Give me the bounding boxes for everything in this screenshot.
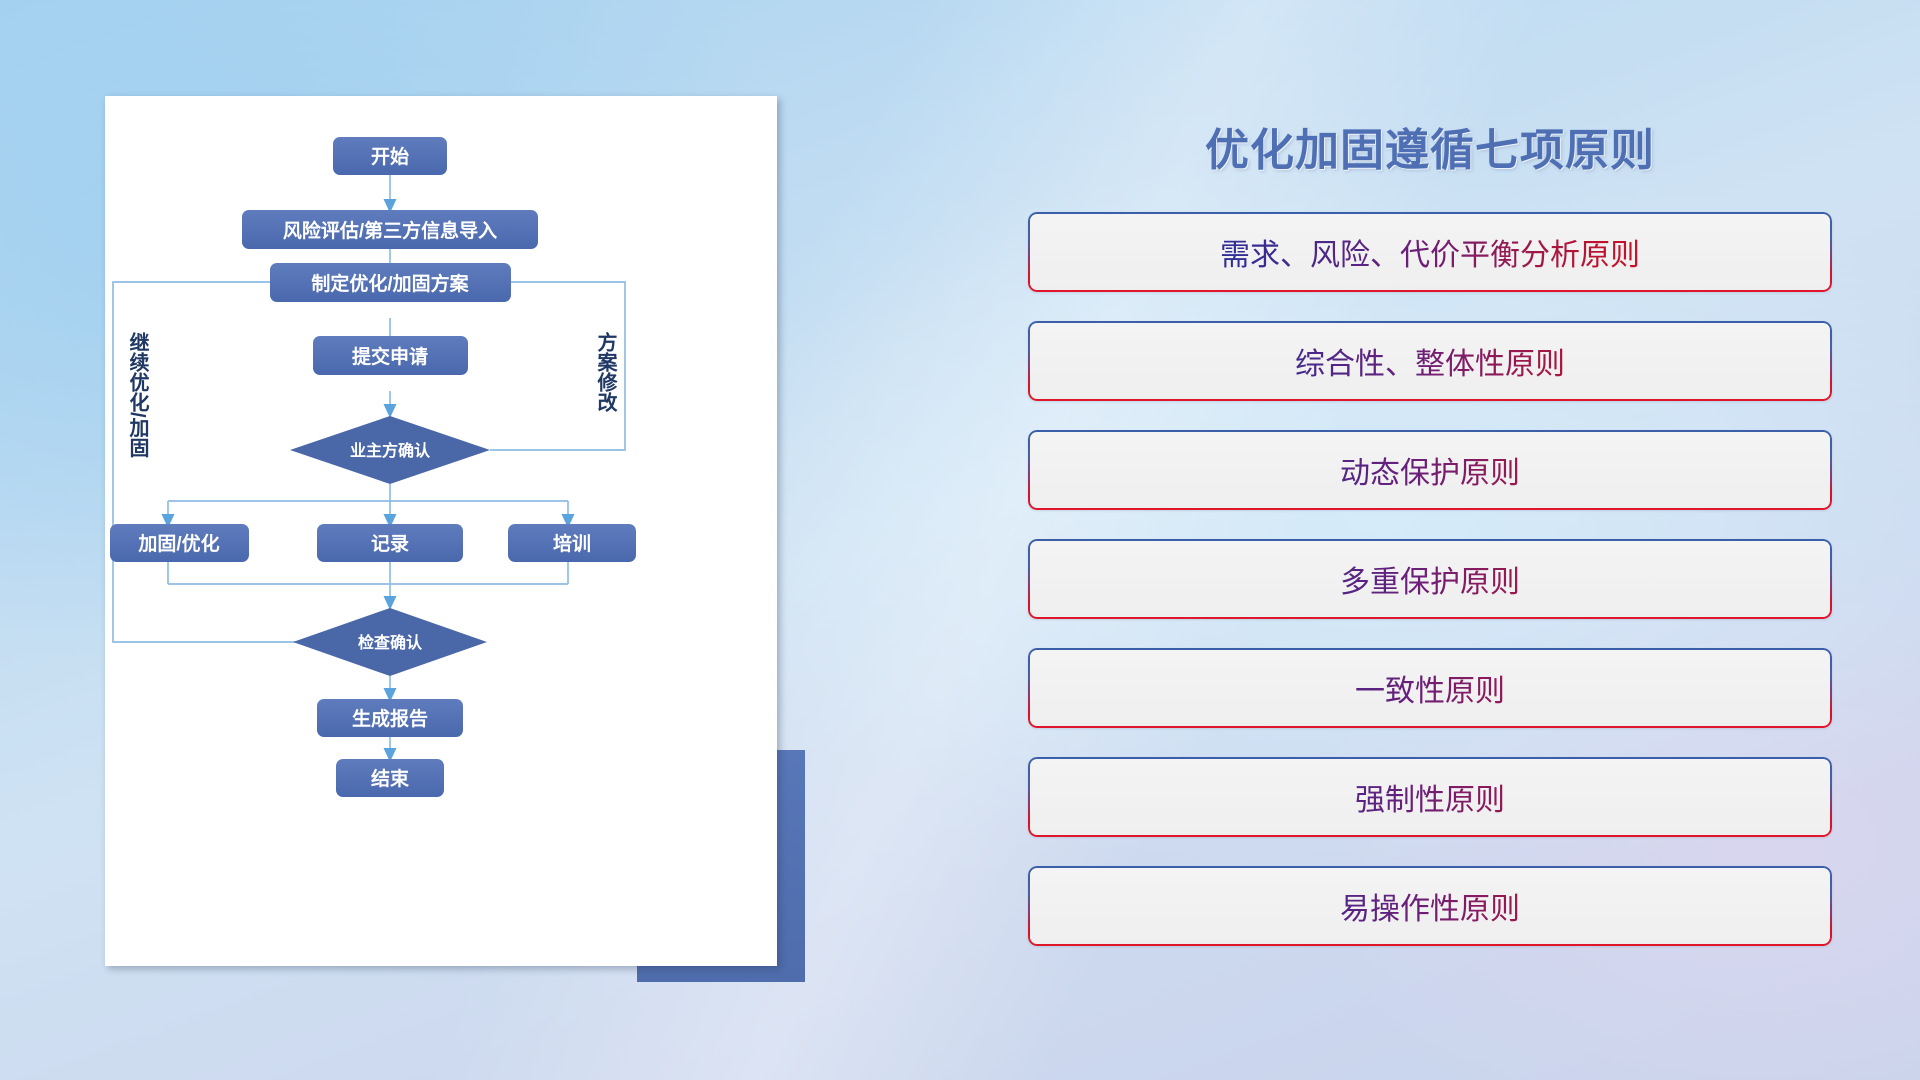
principle-item-4[interactable]: 多重保护原则 (1028, 539, 1832, 619)
flow-node-training: 培训 (508, 524, 636, 562)
flowchart-card: 开始 风险评估/第三方信息导入 制定优化/加固方案 提交申请 业主方确认 加固/… (105, 96, 777, 966)
principle-item-3[interactable]: 动态保护原则 (1028, 430, 1832, 510)
flow-node-label: 结束 (371, 767, 410, 790)
principle-label: 动态保护原则 (1028, 430, 1832, 510)
principle-label: 需求、风险、代价平衡分析原则 (1028, 212, 1832, 292)
panel-title: 优化加固遵循七项原则 (1010, 114, 1850, 178)
flow-node-label: 风险评估/第三方信息导入 (283, 219, 497, 242)
flow-node-risk-assessment: 风险评估/第三方信息导入 (242, 210, 538, 249)
flow-node-owner-confirm: 业主方确认 (290, 416, 490, 484)
flow-node-check-confirm: 检查确认 (293, 608, 487, 676)
principle-item-1[interactable]: 需求、风险、代价平衡分析原则 (1028, 212, 1832, 292)
flow-node-label: 培训 (553, 532, 591, 555)
flow-edge-label-continue-optimize: 继续优化/加固 (126, 331, 150, 458)
principle-label: 综合性、整体性原则 (1028, 321, 1832, 401)
flow-node-label: 记录 (371, 533, 409, 555)
flow-node-label: 业主方确认 (350, 441, 431, 460)
flow-edge-label-plan-revise: 方案修改 (594, 331, 618, 413)
flow-node-end: 结束 (336, 759, 444, 797)
flow-node-submit: 提交申请 (313, 336, 468, 375)
principle-item-5[interactable]: 一致性原则 (1028, 648, 1832, 728)
flow-node-reinforce: 加固/优化 (110, 524, 249, 562)
flow-node-label: 加固/优化 (137, 532, 219, 555)
flowchart-diagram: 开始 风险评估/第三方信息导入 制定优化/加固方案 提交申请 业主方确认 加固/… (105, 96, 777, 966)
flow-node-report: 生成报告 (317, 699, 463, 737)
principle-label: 一致性原则 (1028, 648, 1832, 728)
principle-label: 多重保护原则 (1028, 539, 1832, 619)
flow-node-label: 生成报告 (352, 707, 428, 730)
flow-node-record: 记录 (317, 524, 463, 562)
principle-item-6[interactable]: 强制性原则 (1028, 757, 1832, 837)
flow-node-label: 开始 (371, 145, 409, 168)
flow-node-plan: 制定优化/加固方案 (270, 263, 511, 302)
flow-node-start: 开始 (333, 137, 447, 175)
principle-item-2[interactable]: 综合性、整体性原则 (1028, 321, 1832, 401)
principle-label: 强制性原则 (1028, 757, 1832, 837)
flow-node-label: 制定优化/加固方案 (311, 272, 469, 295)
flow-node-label: 检查确认 (358, 633, 423, 652)
principle-item-7[interactable]: 易操作性原则 (1028, 866, 1832, 946)
principle-label: 易操作性原则 (1028, 866, 1832, 946)
flow-node-label: 提交申请 (352, 345, 428, 368)
principles-panel: 优化加固遵循七项原则 需求、风险、代价平衡分析原则 综合性、整体性原则 动态保护… (1010, 96, 1850, 996)
